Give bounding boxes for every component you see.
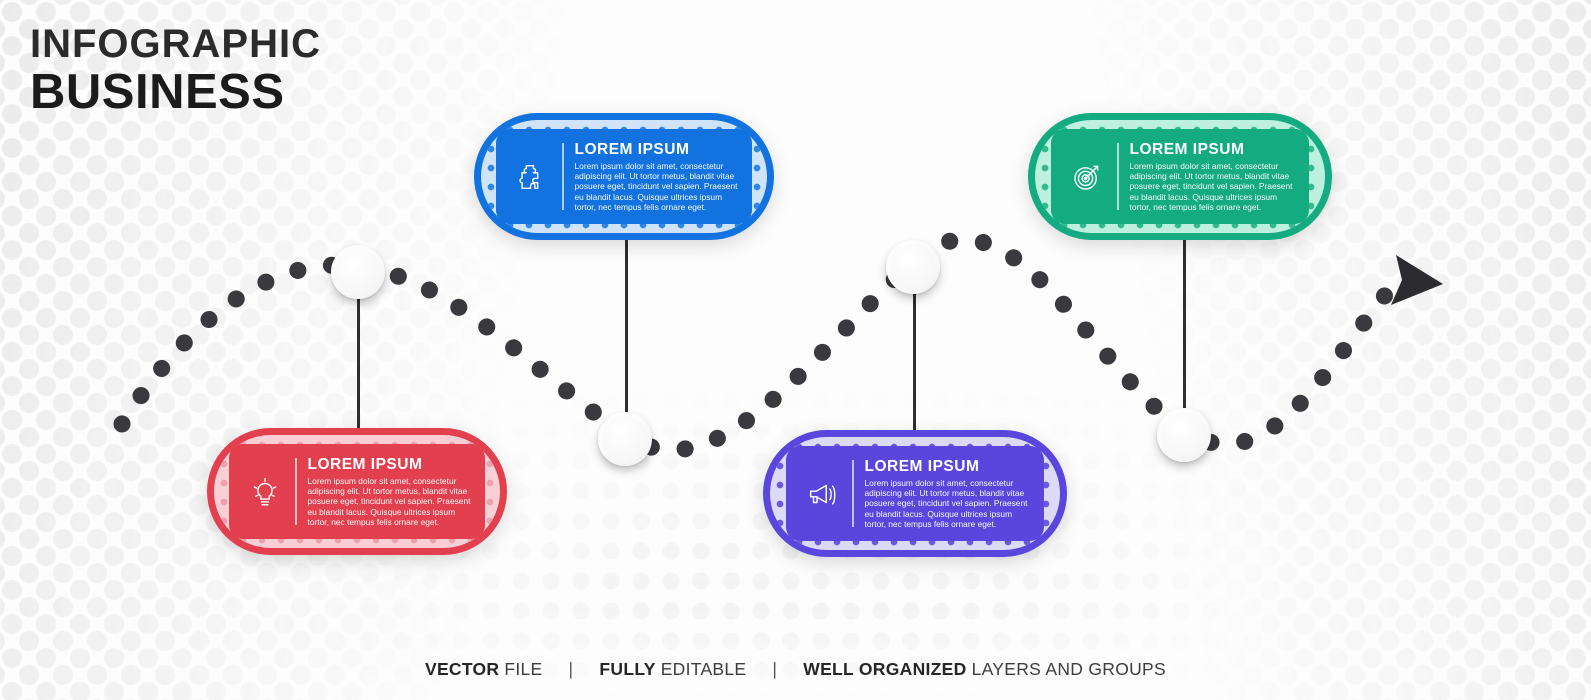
card-blue-text: LOREM IPSUM Lorem ipsum dolor sit amet, … bbox=[575, 141, 739, 212]
infographic-canvas: INFOGRAPHIC BUSINESS bbox=[0, 0, 1591, 700]
card-green[interactable]: LOREM IPSUM Lorem ipsum dolor sit amet, … bbox=[1028, 113, 1332, 240]
card-blue[interactable]: LOREM IPSUM Lorem ipsum dolor sit amet, … bbox=[474, 113, 774, 240]
timeline-node-4[interactable] bbox=[1157, 408, 1211, 462]
card-red-ring: LOREM IPSUM Lorem ipsum dolor sit amet, … bbox=[214, 435, 500, 548]
card-purple-divider bbox=[852, 460, 854, 527]
card-blue-body: Lorem ipsum dolor sit amet, consectetur … bbox=[575, 161, 739, 212]
card-purple-ring: LOREM IPSUM Lorem ipsum dolor sit amet, … bbox=[770, 437, 1060, 550]
card-green-inner: LOREM IPSUM Lorem ipsum dolor sit amet, … bbox=[1051, 129, 1309, 224]
arrow-head-icon bbox=[1391, 255, 1443, 305]
target-icon bbox=[1061, 151, 1113, 203]
footer-separator-2: | bbox=[772, 659, 777, 680]
card-red[interactable]: LOREM IPSUM Lorem ipsum dolor sit amet, … bbox=[207, 428, 507, 555]
card-purple[interactable]: LOREM IPSUM Lorem ipsum dolor sit amet, … bbox=[763, 430, 1067, 557]
connector-stem-green bbox=[1183, 228, 1186, 436]
lightbulb-icon bbox=[239, 466, 291, 518]
card-purple-inner: LOREM IPSUM Lorem ipsum dolor sit amet, … bbox=[786, 446, 1044, 541]
puzzle-icon bbox=[506, 151, 558, 203]
card-blue-ring: LOREM IPSUM Lorem ipsum dolor sit amet, … bbox=[481, 120, 767, 233]
card-green-body: Lorem ipsum dolor sit amet, consectetur … bbox=[1130, 161, 1296, 212]
card-red-text: LOREM IPSUM Lorem ipsum dolor sit amet, … bbox=[308, 456, 472, 527]
card-green-ring: LOREM IPSUM Lorem ipsum dolor sit amet, … bbox=[1035, 120, 1325, 233]
timeline-node-3[interactable] bbox=[886, 240, 940, 294]
card-red-inner: LOREM IPSUM Lorem ipsum dolor sit amet, … bbox=[229, 444, 485, 539]
card-red-title: LOREM IPSUM bbox=[308, 456, 472, 473]
page-title: INFOGRAPHIC BUSINESS bbox=[30, 22, 321, 118]
card-green-text: LOREM IPSUM Lorem ipsum dolor sit amet, … bbox=[1130, 141, 1296, 212]
footer-vector-bold: VECTOR bbox=[425, 659, 499, 680]
connector-stem-blue bbox=[625, 228, 628, 436]
card-green-title: LOREM IPSUM bbox=[1130, 141, 1296, 158]
megaphone-icon bbox=[796, 468, 848, 520]
connector-stem-purple bbox=[913, 272, 916, 448]
footer-fully-bold: FULLY bbox=[599, 659, 655, 680]
footer-fully-normal: EDITABLE bbox=[661, 659, 747, 680]
card-purple-text: LOREM IPSUM Lorem ipsum dolor sit amet, … bbox=[865, 458, 1031, 529]
card-red-body: Lorem ipsum dolor sit amet, consectetur … bbox=[308, 476, 472, 527]
timeline-node-2[interactable] bbox=[598, 412, 652, 466]
footer-organized-normal: LAYERS AND GROUPS bbox=[972, 659, 1166, 680]
card-blue-inner: LOREM IPSUM Lorem ipsum dolor sit amet, … bbox=[496, 129, 752, 224]
timeline-node-1[interactable] bbox=[331, 245, 385, 299]
footer-organized-bold: WELL ORGANIZED bbox=[803, 659, 966, 680]
connector-stem-red bbox=[357, 276, 360, 442]
card-green-divider bbox=[1117, 143, 1119, 210]
card-blue-divider bbox=[562, 143, 564, 210]
card-purple-body: Lorem ipsum dolor sit amet, consectetur … bbox=[865, 478, 1031, 529]
card-purple-title: LOREM IPSUM bbox=[865, 458, 1031, 475]
card-blue-title: LOREM IPSUM bbox=[575, 141, 739, 158]
footer-bar: VECTOR FILE | FULLY EDITABLE | WELL ORGA… bbox=[0, 659, 1591, 680]
title-line-2: BUSINESS bbox=[30, 66, 321, 118]
footer-separator-1: | bbox=[569, 659, 574, 680]
title-line-1: INFOGRAPHIC bbox=[30, 22, 321, 66]
card-red-divider bbox=[295, 458, 297, 525]
footer-vector-normal: FILE bbox=[504, 659, 542, 680]
